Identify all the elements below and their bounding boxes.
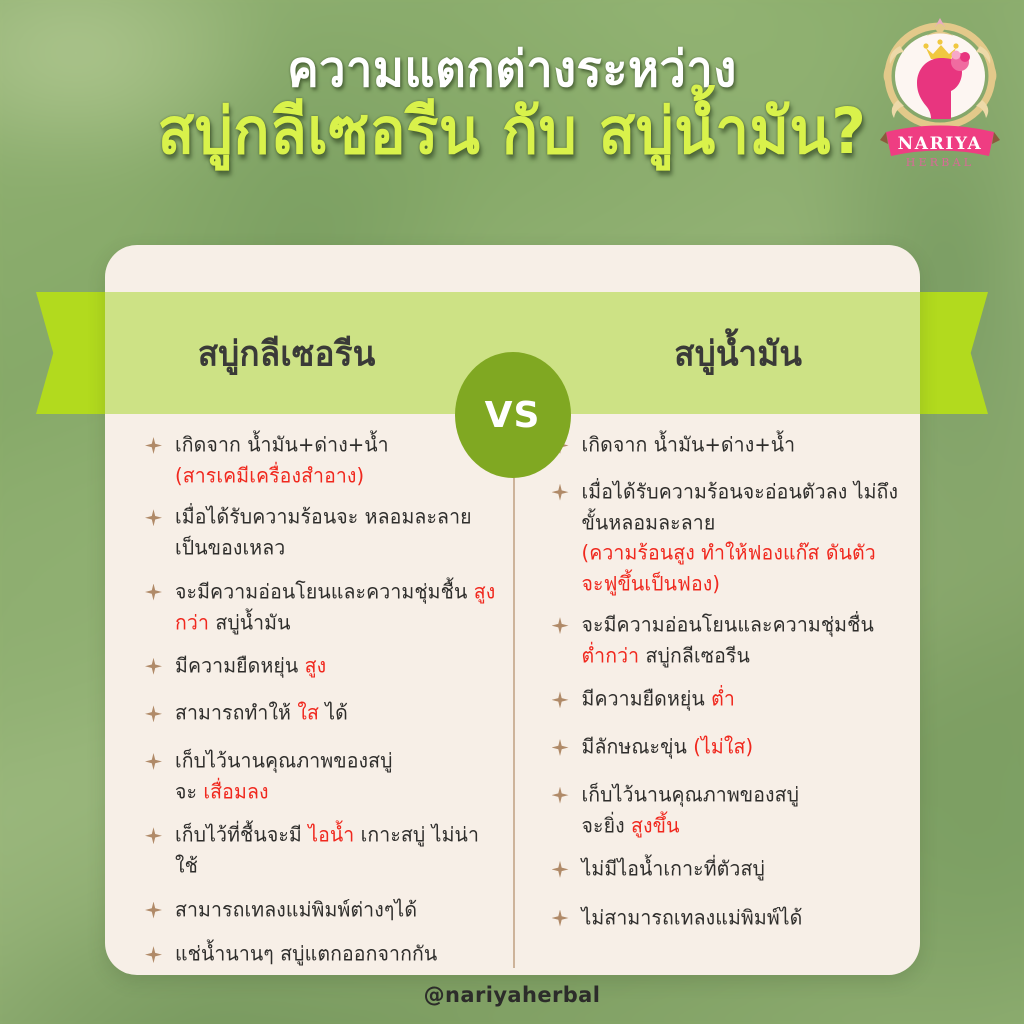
- list-item: เก็บไว้นานคุณภาพของสบู่จะ เสื่อมลง: [145, 746, 496, 805]
- highlighted-text: ใส: [297, 701, 319, 725]
- highlighted-text: ต่ำกว่า: [582, 644, 640, 668]
- plain-text: สบู่น้ำมัน: [209, 610, 291, 634]
- diamond-bullet-icon: [145, 827, 162, 844]
- list-item: มีความยืดหยุ่น สูง: [145, 651, 496, 681]
- infographic-canvas: NARIYA HERBAL ความแตกต่างระหว่าง สบู่กลี…: [0, 0, 1024, 1024]
- footer: @nariyaherbal: [0, 983, 1024, 1007]
- diamond-bullet-icon: [145, 753, 162, 770]
- comparison-columns: เกิดจาก น้ำมัน+ด่าง+น้ำ(สารเคมีเครื่องสำ…: [105, 414, 920, 975]
- list-item: สามารถทำให้ ใส ได้: [145, 698, 496, 728]
- plain-text: เก็บไว้นานคุณภาพของสบู่: [175, 749, 393, 773]
- logo-subtitle: HERBAL: [906, 156, 974, 169]
- highlighted-text: ต่ำ: [711, 687, 735, 711]
- diamond-bullet-icon: [552, 739, 569, 756]
- highlighted-text: เสื่อมลง: [203, 780, 268, 804]
- vs-badge: VS: [455, 352, 571, 478]
- list-item-text: สามารถทำให้ ใส ได้: [175, 698, 348, 729]
- list-item-text: เมื่อได้รับความร้อนจะอ่อนตัวลง ไม่ถึงขั้…: [582, 477, 903, 599]
- highlighted-text: ไอน้ำ: [308, 823, 354, 847]
- list-item: เก็บไว้ที่ชื้นจะมี ไอน้ำ เกาะสบู่ ไม่น่า…: [145, 820, 496, 879]
- list-item: เกิดจาก น้ำมัน+ด่าง+น้ำ(สารเคมีเครื่องสำ…: [145, 430, 496, 489]
- diamond-bullet-icon: [552, 787, 569, 804]
- plain-text: เกิดจาก น้ำมัน+ด่าง+น้ำ: [175, 433, 389, 457]
- plain-text: จะยิ่ง: [582, 813, 632, 837]
- list-item: มีลักษณะขุ่น (ไม่ใส): [552, 732, 903, 762]
- highlighted-text: (สารเคมีเครื่องสำอาง): [175, 464, 364, 488]
- plain-text: เมื่อได้รับความร้อนจะ หลอมละลายเป็นของเห…: [175, 505, 472, 559]
- plain-text: มีความยืดหยุ่น: [582, 687, 712, 711]
- diamond-bullet-icon: [145, 902, 162, 919]
- plain-text: มีลักษณะขุ่น: [582, 735, 694, 759]
- plain-text: จะ: [175, 780, 203, 804]
- diamond-bullet-icon: [145, 946, 162, 963]
- diamond-bullet-icon: [145, 584, 162, 601]
- right-heading: สบู่น้ำมัน: [674, 325, 802, 381]
- list-item: ไม่มีไอน้ำเกาะที่ตัวสบู่: [552, 854, 903, 884]
- column-header-right: สบู่น้ำมัน: [513, 327, 921, 380]
- column-header-left: สบู่กลีเซอรีน: [105, 327, 513, 380]
- highlighted-text: (ความร้อนสูง ทำให้ฟองแก๊ส ดันตัว จะฟูขึ้…: [582, 541, 876, 595]
- list-item-text: สามารถเทลงแม่พิมพ์ต่างๆได้: [175, 895, 417, 926]
- plain-text: สามารถเทลงแม่พิมพ์ต่างๆได้: [175, 898, 417, 922]
- highlighted-text: สูงขึ้น: [631, 813, 679, 837]
- diamond-bullet-icon: [552, 484, 569, 501]
- vs-label: VS: [485, 395, 541, 436]
- list-item: จะมีความอ่อนโยนและความชุ่มชื่น ต่ำกว่า ส…: [552, 610, 903, 669]
- highlighted-text: สูง: [305, 654, 327, 678]
- plain-text: เมื่อได้รับความร้อนจะอ่อนตัวลง ไม่ถึงขั้…: [582, 480, 899, 534]
- left-heading: สบู่กลีเซอรีน: [198, 325, 376, 381]
- list-item-text: มีความยืดหยุ่น ต่ำ: [582, 684, 735, 715]
- brand-logo: NARIYA HERBAL: [870, 14, 1010, 174]
- list-item-text: เก็บไว้นานคุณภาพของสบู่จะ เสื่อมลง: [175, 746, 393, 807]
- list-item: สามารถเทลงแม่พิมพ์ต่างๆได้: [145, 895, 496, 925]
- plain-text: เกิดจาก น้ำมัน+ด่าง+น้ำ: [582, 433, 796, 457]
- list-item-text: เก็บไว้นานคุณภาพของสบู่จะยิ่ง สูงขึ้น: [582, 780, 800, 841]
- diamond-bullet-icon: [145, 705, 162, 722]
- plain-text: เก็บไว้ที่ชื้นจะมี: [175, 823, 308, 847]
- list-item-text: แช่น้ำนานๆ สบู่แตกออกจากกัน: [175, 939, 437, 970]
- list-item-text: ไม่มีไอน้ำเกาะที่ตัวสบู่: [582, 854, 765, 885]
- plain-text: มีความยืดหยุ่น: [175, 654, 305, 678]
- diamond-bullet-icon: [145, 509, 162, 526]
- diamond-bullet-icon: [552, 910, 569, 927]
- plain-text: สบู่กลีเซอรีน: [639, 644, 750, 668]
- list-item-text: เมื่อได้รับความร้อนจะ หลอมละลายเป็นของเห…: [175, 502, 496, 563]
- plain-text: ไม่สามารถเทลงแม่พิมพ์ได้: [582, 906, 803, 930]
- list-item: ไม่สามารถเทลงแม่พิมพ์ได้: [552, 903, 903, 933]
- feature-list-left: เกิดจาก น้ำมัน+ด่าง+น้ำ(สารเคมีเครื่องสำ…: [105, 414, 518, 975]
- list-item: เกิดจาก น้ำมัน+ด่าง+น้ำ: [552, 430, 903, 460]
- list-item: เมื่อได้รับความร้อนจะ หลอมละลายเป็นของเห…: [145, 502, 496, 561]
- list-item: แช่น้ำนานๆ สบู่แตกออกจากกัน: [145, 939, 496, 969]
- list-item-text: จะมีความอ่อนโยนและความชุ่มชื้น สูงกว่า ส…: [175, 577, 496, 638]
- social-handle: @nariyaherbal: [424, 983, 601, 1007]
- diamond-bullet-icon: [145, 437, 162, 454]
- plain-text: จะมีความอ่อนโยนและความชุ่มชื้น: [175, 580, 474, 604]
- list-item: เก็บไว้นานคุณภาพของสบู่จะยิ่ง สูงขึ้น: [552, 780, 903, 839]
- diamond-bullet-icon: [552, 617, 569, 634]
- highlighted-text: (ไม่ใส): [693, 735, 753, 759]
- plain-text: ได้: [319, 701, 348, 725]
- plain-text: จะมีความอ่อนโยนและความชุ่มชื่น: [582, 613, 874, 637]
- list-item-text: เกิดจาก น้ำมัน+ด่าง+น้ำ: [582, 430, 796, 461]
- list-item: เมื่อได้รับความร้อนจะอ่อนตัวลง ไม่ถึงขั้…: [552, 477, 903, 596]
- comparison-card: สบู่กลีเซอรีน สบู่น้ำมัน VS เกิดจาก น้ำม…: [105, 245, 920, 975]
- plain-text: สามารถทำให้: [175, 701, 297, 725]
- list-item: จะมีความอ่อนโยนและความชุ่มชื้น สูงกว่า ส…: [145, 577, 496, 636]
- list-item-text: ไม่สามารถเทลงแม่พิมพ์ได้: [582, 903, 803, 934]
- diamond-bullet-icon: [145, 658, 162, 675]
- plain-text: เก็บไว้นานคุณภาพของสบู่: [582, 783, 800, 807]
- logo-name: NARIYA: [898, 134, 983, 154]
- list-item-text: เกิดจาก น้ำมัน+ด่าง+น้ำ(สารเคมีเครื่องสำ…: [175, 430, 389, 491]
- list-item-text: เก็บไว้ที่ชื้นจะมี ไอน้ำ เกาะสบู่ ไม่น่า…: [175, 820, 496, 881]
- diamond-bullet-icon: [552, 861, 569, 878]
- plain-text: แช่น้ำนานๆ สบู่แตกออกจากกัน: [175, 942, 437, 966]
- plain-text: ไม่มีไอน้ำเกาะที่ตัวสบู่: [582, 857, 765, 881]
- feature-list-right: เกิดจาก น้ำมัน+ด่าง+น้ำเมื่อได้รับความร้…: [518, 414, 921, 975]
- list-item: มีความยืดหยุ่น ต่ำ: [552, 684, 903, 714]
- list-item-text: จะมีความอ่อนโยนและความชุ่มชื่น ต่ำกว่า ส…: [582, 610, 903, 671]
- list-item-text: มีลักษณะขุ่น (ไม่ใส): [582, 732, 754, 763]
- list-item-text: มีความยืดหยุ่น สูง: [175, 651, 326, 682]
- diamond-bullet-icon: [552, 691, 569, 708]
